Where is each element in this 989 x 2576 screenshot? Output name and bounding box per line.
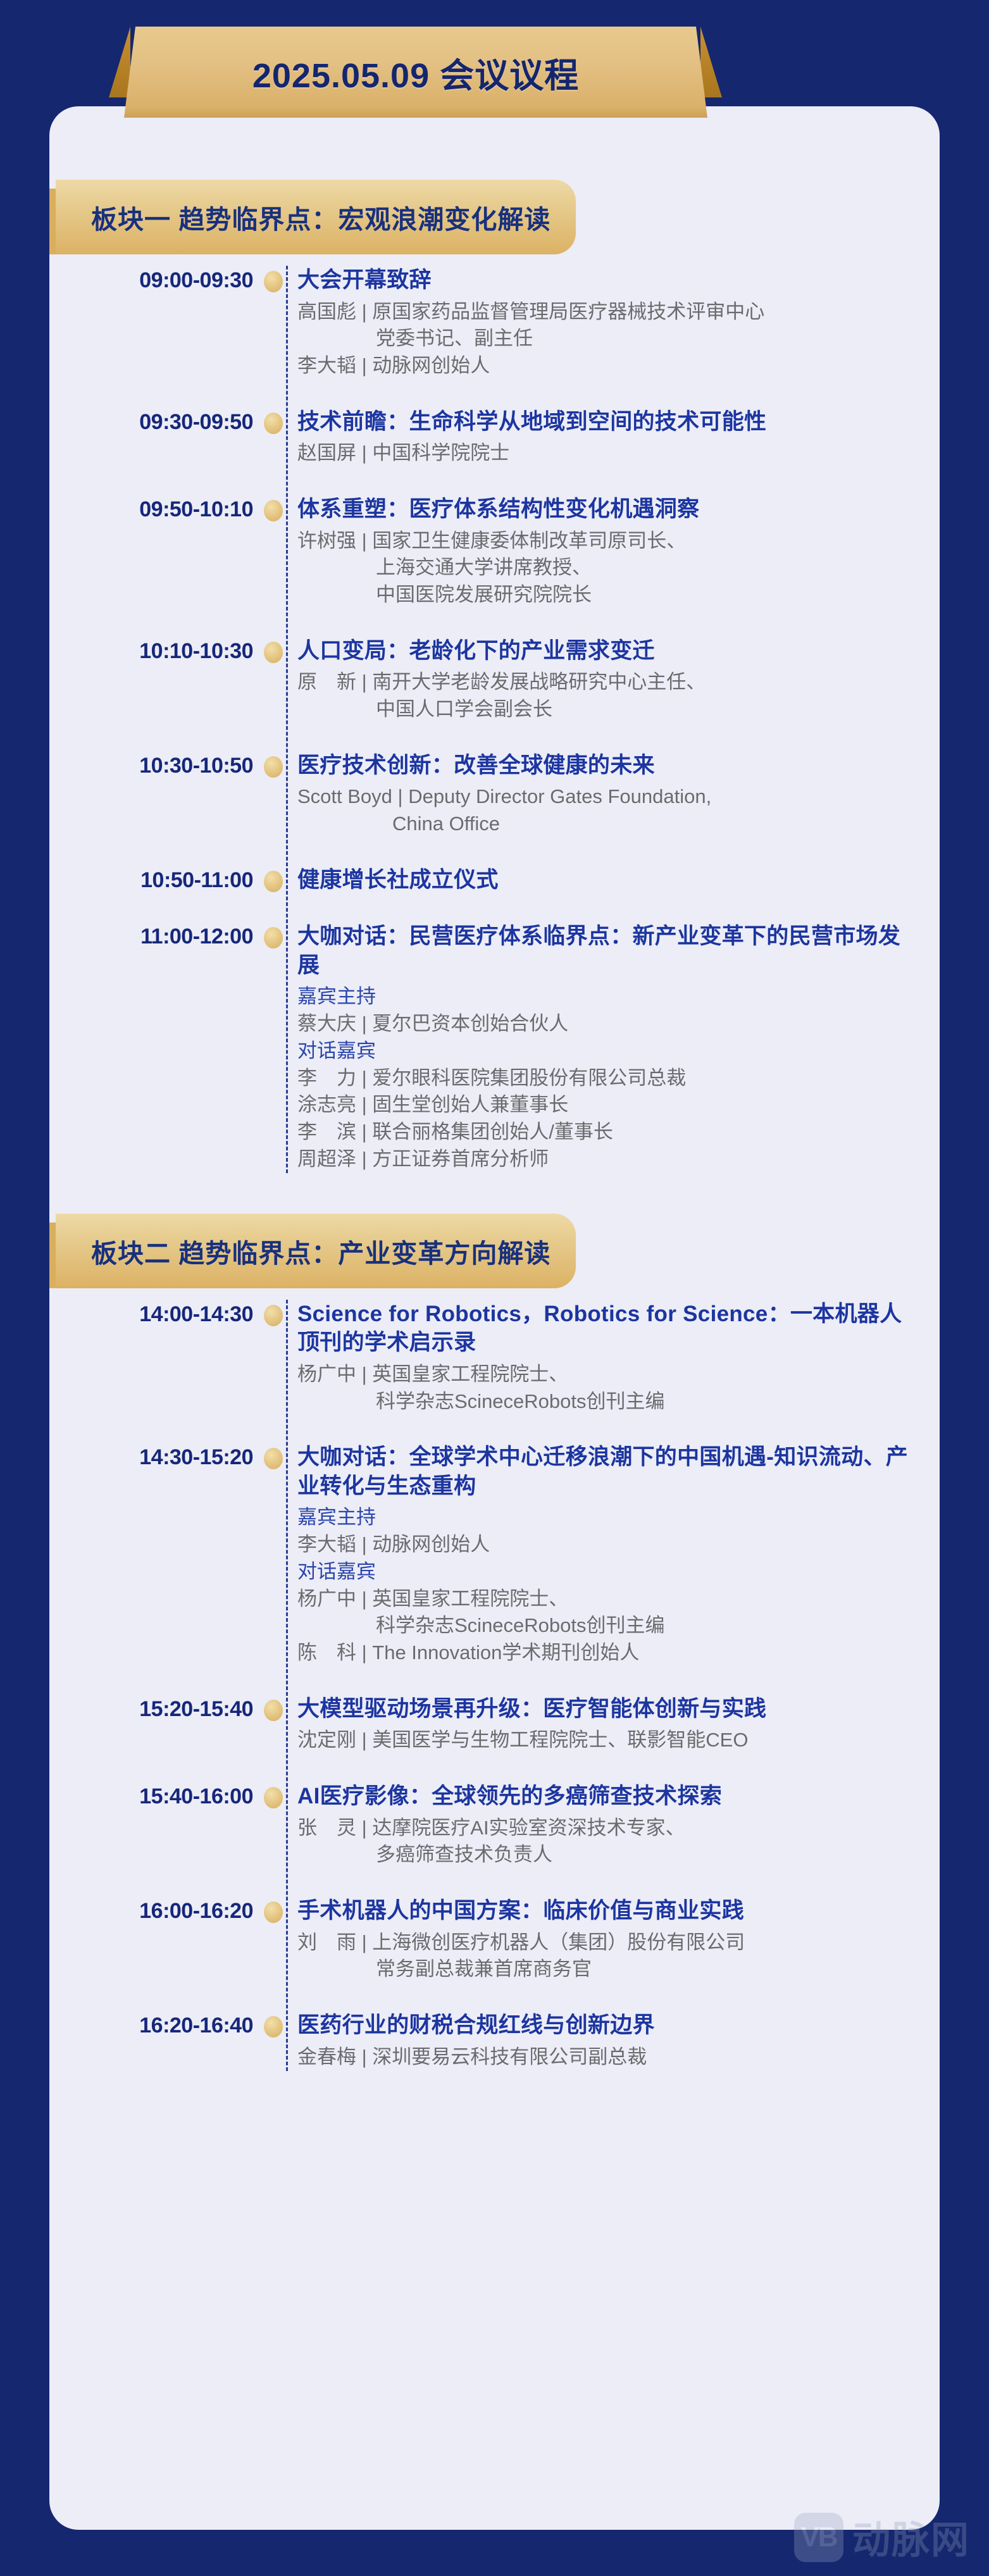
speaker-line: 科学杂志ScineceRobots创刊主编: [297, 1612, 914, 1640]
speaker-line: Scott Boyd | Deputy Director Gates Found…: [297, 783, 914, 811]
speaker-line: China Office: [297, 811, 914, 838]
section-ribbon-label: 板块二 趋势临界点：产业变革方向解读: [56, 1232, 550, 1270]
poster-root: 板块一 趋势临界点：宏观浪潮变化解读 09:00-09:30大会开幕致辞高国彪 …: [0, 0, 989, 2576]
agenda-item-title: AI医疗影像：全球领先的多癌筛查技术探索: [297, 1782, 914, 1811]
agenda-item-title: 大咖对话：全球学术中心迁移浪潮下的中国机遇-知识流动、产业转化与生态重构: [297, 1443, 914, 1500]
timeline-dot-column: [267, 495, 287, 609]
agenda-item-gap: [49, 1869, 940, 1896]
agenda-item: 10:10-10:30人口变局：老龄化下的产业需求变迁原 新 | 南开大学老龄发…: [49, 637, 940, 723]
timeline-dot-column: [267, 408, 287, 467]
agenda-item-title: 医药行业的财税合规红线与创新边界: [297, 2011, 914, 2040]
agenda-item-body: 医药行业的财税合规红线与创新边界金春梅 | 深圳要易云科技有限公司副总裁: [287, 2011, 940, 2070]
agenda-item-time: 09:30-09:50: [49, 408, 267, 467]
agenda-item-time: 10:30-10:50: [49, 751, 267, 838]
agenda-item-body: 大模型驱动场景再升级：医疗智能体创新与实践沈定刚 | 美国医学与生物工程院院士、…: [287, 1695, 940, 1754]
agenda-item-body: 大咖对话：全球学术中心迁移浪潮下的中国机遇-知识流动、产业转化与生态重构嘉宾主持…: [287, 1443, 940, 1667]
timeline-dot-icon: [264, 271, 283, 292]
speaker-line: 蔡大庆 | 夏尔巴资本创始合伙人: [297, 1011, 914, 1038]
agenda-item-time: 10:10-10:30: [49, 637, 267, 723]
speaker-line: 李 滨 | 联合丽格集团创始人/董事长: [297, 1119, 914, 1146]
timeline-dot-column: [267, 1300, 287, 1416]
agenda-item-body: 大咖对话：民营医疗体系临界点：新产业变革下的民营市场发展嘉宾主持蔡大庆 | 夏尔…: [287, 922, 940, 1173]
section-ribbon-2: 板块二 趋势临界点：产业变革方向解读: [49, 1214, 940, 1288]
speaker-line: 周超泽 | 方正证券首席分析师: [297, 1146, 914, 1173]
timeline-dot-column: [267, 1782, 287, 1869]
agenda-item-speakers: 原 新 | 南开大学老龄发展战略研究中心主任、中国人口学会副会长: [297, 669, 914, 723]
agenda-item: 11:00-12:00大咖对话：民营医疗体系临界点：新产业变革下的民营市场发展嘉…: [49, 922, 940, 1173]
agenda-item: 15:20-15:40大模型驱动场景再升级：医疗智能体创新与实践沈定刚 | 美国…: [49, 1695, 940, 1754]
agenda-item-time: 16:20-16:40: [49, 2011, 267, 2070]
timeline-dot-column: [267, 637, 287, 723]
agenda-item-speakers: 许树强 | 国家卫生健康委体制改革司原司长、上海交通大学讲席教授、中国医院发展研…: [297, 528, 914, 609]
timeline-dot-icon: [264, 871, 283, 892]
timeline-dot-icon: [264, 642, 283, 663]
speaker-line: 李大韬 | 动脉网创始人: [297, 352, 914, 380]
agenda-item-speakers: 杨广中 | 英国皇家工程院院士、科学杂志ScineceRobots创刊主编: [297, 1361, 914, 1416]
timeline-dot-icon: [264, 500, 283, 521]
watermark: VB 动脉网: [794, 2510, 970, 2565]
agenda-card-inner: 板块一 趋势临界点：宏观浪潮变化解读 09:00-09:30大会开幕致辞高国彪 …: [49, 106, 940, 2530]
agenda-items-1: 09:00-09:30大会开幕致辞高国彪 | 原国家药品监督管理局医疗器械技术评…: [49, 266, 940, 1173]
timeline-dot-icon: [264, 413, 283, 434]
agenda-item: 14:30-15:20大咖对话：全球学术中心迁移浪潮下的中国机遇-知识流动、产业…: [49, 1443, 940, 1667]
agenda-item-gap: [49, 609, 940, 637]
timeline-dot-column: [267, 1443, 287, 1667]
agenda-item-time: 14:30-15:20: [49, 1443, 267, 1667]
agenda-item-time: 15:40-16:00: [49, 1782, 267, 1869]
agenda-item-gap: [49, 1754, 940, 1782]
timeline-dot-column: [267, 866, 287, 895]
agenda-item-gap: [49, 467, 940, 495]
agenda-item-body: 技术前瞻：生命科学从地域到空间的技术可能性赵国屏 | 中国科学院院士: [287, 408, 940, 467]
agenda-item-speakers: 高国彪 | 原国家药品监督管理局医疗器械技术评审中心党委书记、副主任李大韬 | …: [297, 299, 914, 380]
agenda-item: 10:50-11:00健康增长社成立仪式: [49, 866, 940, 895]
speaker-line: 金春梅 | 深圳要易云科技有限公司副总裁: [297, 2044, 914, 2071]
agenda-items-2: 14:00-14:30Science for Robotics，Robotics…: [49, 1300, 940, 2071]
agenda-list-1: 09:00-09:30大会开幕致辞高国彪 | 原国家药品监督管理局医疗器械技术评…: [49, 266, 940, 1173]
title-banner: 2025.05.09 会议议程: [0, 0, 989, 106]
ribbon-body: 板块一 趋势临界点：宏观浪潮变化解读: [56, 180, 576, 254]
agenda-item-gap: [49, 1983, 940, 2011]
timeline-dot-column: [267, 922, 287, 1173]
agenda-item-title: 大会开幕致辞: [297, 266, 914, 295]
speaker-line: 多癌筛查技术负责人: [297, 1841, 914, 1869]
speaker-line: 上海交通大学讲席教授、: [297, 554, 914, 582]
agenda-item-speakers: 刘 雨 | 上海微创医疗机器人（集团）股份有限公司常务副总裁兼首席商务官: [297, 1929, 914, 1984]
agenda-item: 09:30-09:50技术前瞻：生命科学从地域到空间的技术可能性赵国屏 | 中国…: [49, 408, 940, 467]
agenda-list-2: 14:00-14:30Science for Robotics，Robotics…: [49, 1300, 940, 2071]
timeline-dot-icon: [264, 1448, 283, 1469]
watermark-logo-icon: VB: [794, 2513, 843, 2562]
speaker-line: 涂志亮 | 固生堂创始人兼董事长: [297, 1092, 914, 1119]
agenda-item-body: AI医疗影像：全球领先的多癌筛查技术探索张 灵 | 达摩院医疗AI实验室资深技术…: [287, 1782, 940, 1869]
timeline-dot-column: [267, 1695, 287, 1754]
agenda-item: 09:50-10:10体系重塑：医疗体系结构性变化机遇洞察许树强 | 国家卫生健…: [49, 495, 940, 609]
section-ribbon-label: 板块一 趋势临界点：宏观浪潮变化解读: [56, 198, 550, 236]
agenda-item: 09:00-09:30大会开幕致辞高国彪 | 原国家药品监督管理局医疗器械技术评…: [49, 266, 940, 380]
agenda-item-body: 人口变局：老龄化下的产业需求变迁原 新 | 南开大学老龄发展战略研究中心主任、中…: [287, 637, 940, 723]
speaker-line: 张 灵 | 达摩院医疗AI实验室资深技术专家、: [297, 1815, 914, 1842]
agenda-item: 15:40-16:00AI医疗影像：全球领先的多癌筛查技术探索张 灵 | 达摩院…: [49, 1782, 940, 1869]
agenda-item-body: 体系重塑：医疗体系结构性变化机遇洞察许树强 | 国家卫生健康委体制改革司原司长、…: [287, 495, 940, 609]
agenda-item-speakers: 沈定刚 | 美国医学与生物工程院院士、联影智能CEO: [297, 1727, 914, 1754]
speaker-line: 沈定刚 | 美国医学与生物工程院院士、联影智能CEO: [297, 1727, 914, 1754]
agenda-item-gap: [49, 838, 940, 866]
agenda-item: 16:20-16:40医药行业的财税合规红线与创新边界金春梅 | 深圳要易云科技…: [49, 2011, 940, 2070]
ribbon-body: 板块二 趋势临界点：产业变革方向解读: [56, 1214, 576, 1288]
timeline-dot-column: [267, 2011, 287, 2070]
banner-title: 2025.05.09 会议议程: [124, 27, 707, 118]
agenda-item-time: 09:50-10:10: [49, 495, 267, 609]
agenda-item-gap: [49, 1415, 940, 1443]
speaker-role-label: 对话嘉宾: [297, 1559, 914, 1586]
agenda-item-body: 健康增长社成立仪式: [287, 866, 940, 895]
speaker-line: 杨广中 | 英国皇家工程院院士、: [297, 1586, 914, 1613]
agenda-item-speakers: 赵国屏 | 中国科学院院士: [297, 440, 914, 467]
agenda-card: 板块一 趋势临界点：宏观浪潮变化解读 09:00-09:30大会开幕致辞高国彪 …: [49, 106, 940, 2530]
speaker-line: 刘 雨 | 上海微创医疗机器人（集团）股份有限公司: [297, 1929, 914, 1957]
agenda-item-time: 09:00-09:30: [49, 266, 267, 380]
agenda-item-title: 技术前瞻：生命科学从地域到空间的技术可能性: [297, 408, 914, 437]
section-gap: [49, 1173, 940, 1214]
timeline-dot-column: [267, 751, 287, 838]
timeline-dot-icon: [264, 756, 283, 778]
agenda-item-body: Science for Robotics，Robotics for Scienc…: [287, 1300, 940, 1416]
agenda-item-gap: [49, 380, 940, 408]
speaker-line: 中国医院发展研究院院长: [297, 582, 914, 609]
agenda-item: 16:00-16:20手术机器人的中国方案：临床价值与商业实践刘 雨 | 上海微…: [49, 1896, 940, 1983]
section-1: 板块一 趋势临界点：宏观浪潮变化解读 09:00-09:30大会开幕致辞高国彪 …: [49, 180, 940, 1173]
agenda-item: 10:30-10:50医疗技术创新：改善全球健康的未来Scott Boyd | …: [49, 751, 940, 838]
agenda-item-speakers: 嘉宾主持李大韬 | 动脉网创始人对话嘉宾杨广中 | 英国皇家工程院院士、科学杂志…: [297, 1504, 914, 1667]
timeline-dot-icon: [264, 1700, 283, 1721]
agenda-item-title: 医疗技术创新：改善全球健康的未来: [297, 751, 914, 780]
agenda-item-time: 16:00-16:20: [49, 1896, 267, 1983]
agenda-item-title: 人口变局：老龄化下的产业需求变迁: [297, 637, 914, 666]
agenda-item-title: 体系重塑：医疗体系结构性变化机遇洞察: [297, 495, 914, 524]
agenda-item-body: 手术机器人的中国方案：临床价值与商业实践刘 雨 | 上海微创医疗机器人（集团）股…: [287, 1896, 940, 1983]
agenda-item-speakers: 金春梅 | 深圳要易云科技有限公司副总裁: [297, 2044, 914, 2071]
speaker-line: 原 新 | 南开大学老龄发展战略研究中心主任、: [297, 669, 914, 696]
agenda-item-title: 健康增长社成立仪式: [297, 866, 914, 895]
agenda-item-gap: [49, 723, 940, 751]
speaker-line: 常务副总裁兼首席商务官: [297, 1956, 914, 1983]
agenda-item-time: 15:20-15:40: [49, 1695, 267, 1754]
timeline-dot-column: [267, 1896, 287, 1983]
speaker-line: 科学杂志ScineceRobots创刊主编: [297, 1388, 914, 1416]
agenda-item: 14:00-14:30Science for Robotics，Robotics…: [49, 1300, 940, 1416]
speaker-line: 赵国屏 | 中国科学院院士: [297, 440, 914, 467]
agenda-item-gap: [49, 1667, 940, 1695]
timeline-dot-icon: [264, 1787, 283, 1808]
agenda-item-speakers: Scott Boyd | Deputy Director Gates Found…: [297, 783, 914, 838]
timeline-dot-icon: [264, 2016, 283, 2038]
agenda-item-speakers: 嘉宾主持蔡大庆 | 夏尔巴资本创始合伙人对话嘉宾李 力 | 爱尔眼科医院集团股份…: [297, 983, 914, 1173]
timeline-dot-icon: [264, 1305, 283, 1326]
timeline-dot-icon: [264, 927, 283, 949]
section-ribbon-1: 板块一 趋势临界点：宏观浪潮变化解读: [49, 180, 940, 254]
agenda-item-title: 大模型驱动场景再升级：医疗智能体创新与实践: [297, 1695, 914, 1724]
speaker-line: 许树强 | 国家卫生健康委体制改革司原司长、: [297, 528, 914, 555]
agenda-item-body: 医疗技术创新：改善全球健康的未来Scott Boyd | Deputy Dire…: [287, 751, 940, 838]
speaker-role-label: 对话嘉宾: [297, 1038, 914, 1065]
section-2: 板块二 趋势临界点：产业变革方向解读 14:00-14:30Science fo…: [49, 1214, 940, 2071]
agenda-item-body: 大会开幕致辞高国彪 | 原国家药品监督管理局医疗器械技术评审中心党委书记、副主任…: [287, 266, 940, 380]
speaker-line: 杨广中 | 英国皇家工程院院士、: [297, 1361, 914, 1388]
timeline-dot-icon: [264, 1901, 283, 1923]
agenda-item-title: Science for Robotics，Robotics for Scienc…: [297, 1300, 914, 1357]
speaker-line: 李 力 | 爱尔眼科医院集团股份有限公司总裁: [297, 1065, 914, 1092]
speaker-line: 李大韬 | 动脉网创始人: [297, 1531, 914, 1559]
speaker-line: 陈 科 | The Innovation学术期刊创始人: [297, 1640, 914, 1667]
speaker-line: 高国彪 | 原国家药品监督管理局医疗器械技术评审中心: [297, 299, 914, 326]
timeline-dot-column: [267, 266, 287, 380]
agenda-item-time: 10:50-11:00: [49, 866, 267, 895]
speaker-role-label: 嘉宾主持: [297, 983, 914, 1011]
speaker-line: 党委书记、副主任: [297, 325, 914, 352]
agenda-item-gap: [49, 894, 940, 922]
agenda-item-title: 手术机器人的中国方案：临床价值与商业实践: [297, 1896, 914, 1926]
watermark-text: 动脉网: [852, 2510, 970, 2565]
agenda-item-speakers: 张 灵 | 达摩院医疗AI实验室资深技术专家、多癌筛查技术负责人: [297, 1815, 914, 1869]
agenda-item-time: 11:00-12:00: [49, 922, 267, 1173]
speaker-line: 中国人口学会副会长: [297, 696, 914, 723]
agenda-item-title: 大咖对话：民营医疗体系临界点：新产业变革下的民营市场发展: [297, 922, 914, 980]
speaker-role-label: 嘉宾主持: [297, 1504, 914, 1531]
agenda-item-time: 14:00-14:30: [49, 1300, 267, 1416]
